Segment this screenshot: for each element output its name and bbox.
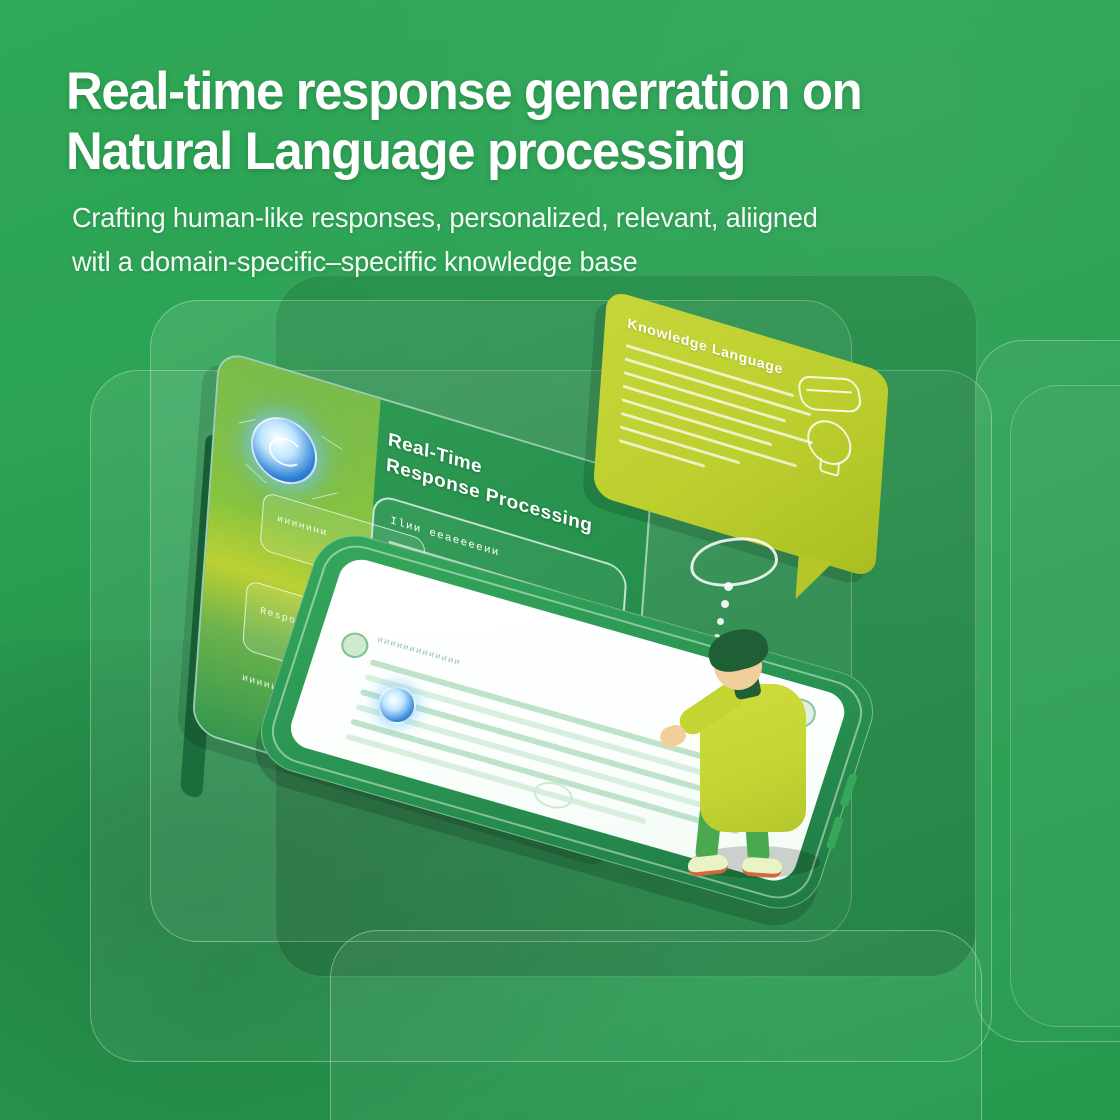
poster-title: Real-time response generration on Natura… bbox=[66, 62, 1016, 182]
person-using-phone bbox=[672, 618, 862, 880]
poster-subtitle: Crafting human-like responses, personali… bbox=[72, 196, 1026, 284]
person-shoe-front bbox=[741, 857, 782, 879]
thought-dot bbox=[724, 582, 733, 591]
thought-dot bbox=[721, 600, 729, 608]
thought-bubble-icon bbox=[688, 534, 781, 591]
avatar bbox=[338, 629, 372, 661]
bulb-icon bbox=[806, 415, 853, 471]
headline-block: Real-time response generration on Natura… bbox=[66, 62, 1056, 284]
network-node-icon bbox=[378, 686, 416, 724]
phone-message-label: иииииииииииии bbox=[376, 635, 462, 668]
poster-canvas: Real-time response generration on Natura… bbox=[0, 0, 1120, 1120]
dashboard-chip-a-label: ииинини bbox=[277, 514, 328, 540]
knowledge-bubble-tail bbox=[796, 552, 833, 609]
book-icon bbox=[796, 375, 863, 413]
